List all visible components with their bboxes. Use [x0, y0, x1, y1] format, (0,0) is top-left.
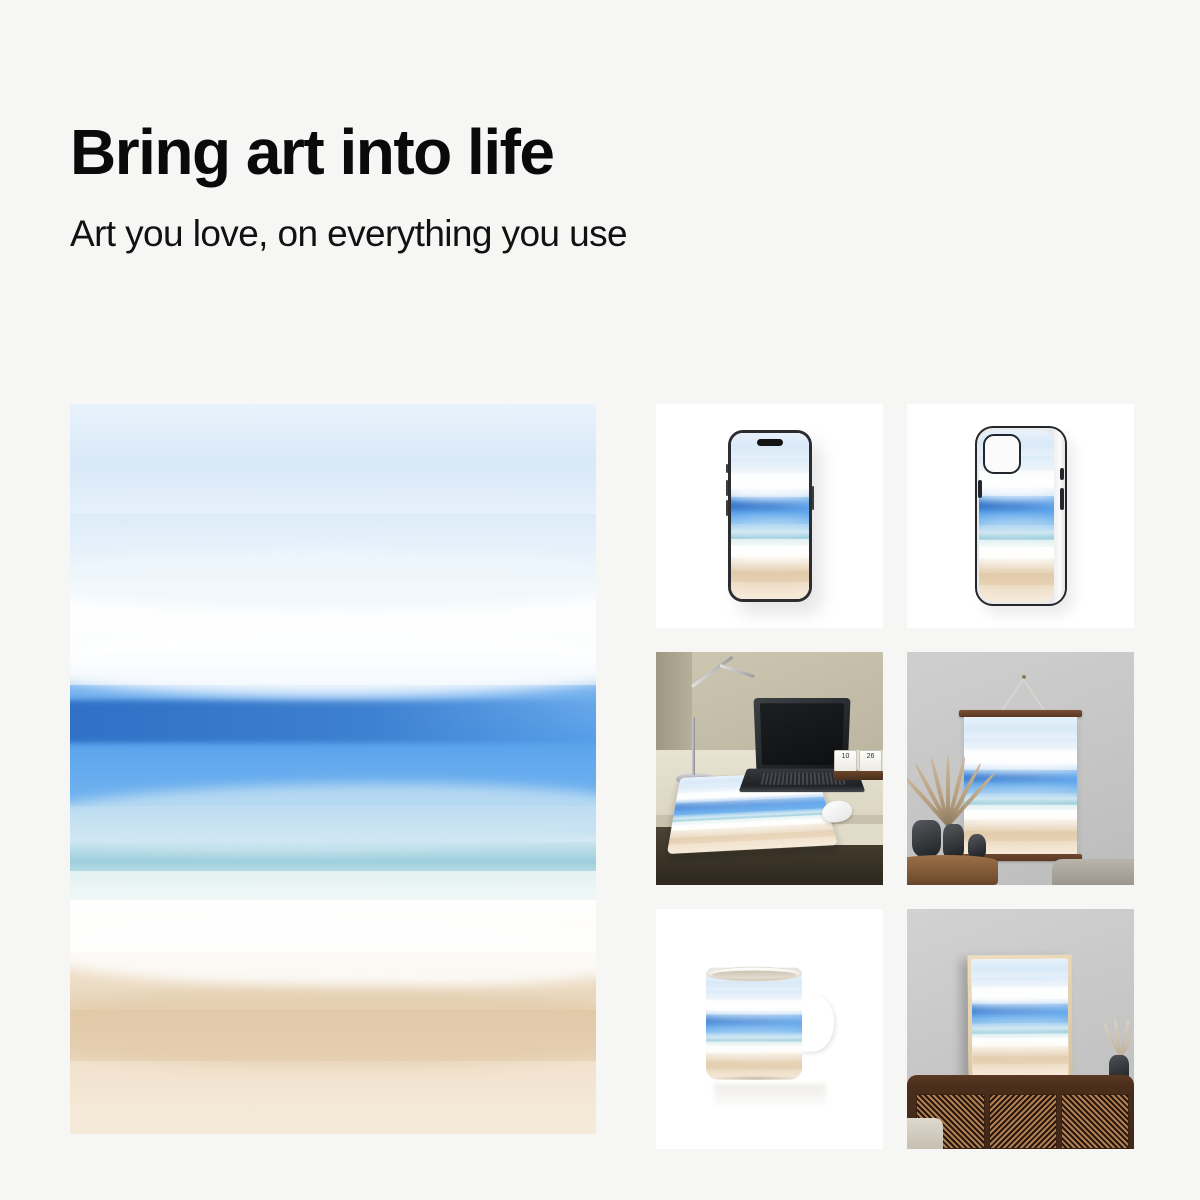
vase-medium	[943, 824, 963, 857]
armchair	[907, 1118, 943, 1149]
volume-up-button	[726, 480, 728, 496]
vase-small	[968, 834, 986, 857]
tile-mug-mockup[interactable]	[656, 909, 883, 1149]
artwork-image	[706, 975, 802, 1080]
dynamic-island	[757, 439, 783, 446]
case-button-left	[978, 480, 982, 498]
calendar-left-number: 10	[834, 750, 857, 772]
phone-screen	[731, 433, 809, 599]
mug-base-shadow	[710, 1076, 802, 1080]
poster-rail-top	[959, 710, 1082, 717]
picture-frame	[968, 954, 1073, 1080]
page-title: Bring art into life	[70, 118, 627, 187]
flip-calendar: 10 26	[833, 750, 883, 780]
tile-phone-mockup[interactable]	[656, 404, 883, 628]
sideboard-door	[989, 1094, 1057, 1149]
hero-artwork-print[interactable]	[70, 404, 596, 1134]
phone-case	[975, 426, 1067, 606]
product-showcase-page: Bring art into life Art you love, on eve…	[0, 0, 1200, 1200]
mug-rim	[706, 967, 802, 982]
ceramic-mug	[706, 968, 834, 1086]
volume-down-button	[726, 500, 728, 516]
artwork-image	[70, 404, 596, 1134]
laptop-keyboard	[760, 773, 845, 785]
artwork-image	[972, 958, 1069, 1075]
side-table	[907, 855, 998, 885]
framed-print	[972, 958, 1069, 1075]
artwork-image	[731, 433, 809, 599]
lamp-pole	[692, 717, 695, 775]
tile-hanging-poster-mockup[interactable]	[907, 652, 1134, 885]
sofa	[1052, 859, 1134, 885]
silent-switch	[726, 464, 728, 473]
case-side-rail	[1054, 428, 1065, 604]
tile-framed-print-mockup[interactable]	[907, 909, 1134, 1149]
mug-reflection	[714, 1084, 826, 1110]
product-mockup-grid: 10 26	[656, 404, 1134, 1134]
pampas-grass	[909, 755, 982, 825]
tile-desk-mat-mockup[interactable]: 10 26	[656, 652, 883, 885]
calendar-right-number: 26	[859, 750, 882, 772]
case-button-bottom	[1060, 488, 1064, 510]
tile-phone-case-mockup[interactable]	[907, 404, 1134, 628]
smartphone-device	[728, 430, 812, 602]
mug-print	[706, 975, 802, 1080]
calendar-stand	[833, 771, 883, 780]
pampas-grass	[1105, 1019, 1135, 1057]
mug-body	[706, 968, 802, 1080]
power-button	[812, 486, 814, 510]
laptop	[751, 699, 853, 797]
sideboard-doors	[916, 1094, 1129, 1149]
header: Bring art into life Art you love, on eve…	[70, 118, 627, 255]
camera-cutout	[983, 434, 1021, 474]
sideboard-door	[1061, 1094, 1129, 1149]
case-button-top	[1060, 468, 1064, 480]
page-subtitle: Art you love, on everything you use	[70, 213, 627, 255]
vase-large	[912, 820, 942, 857]
